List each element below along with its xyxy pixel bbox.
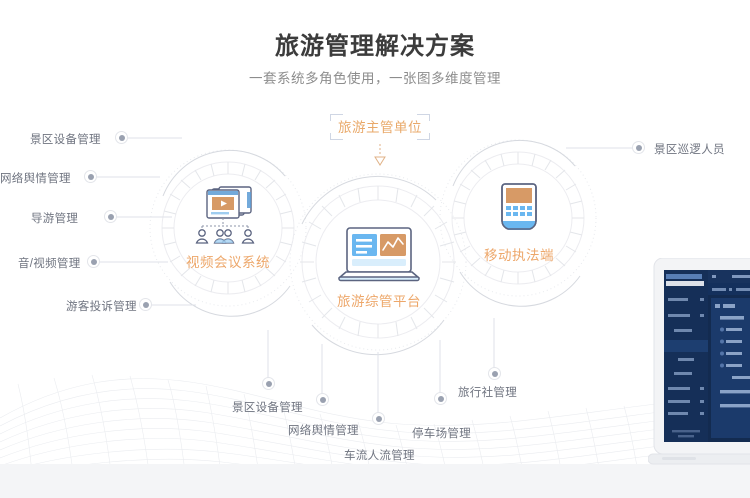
laptop-dashboard-mockup [648, 258, 750, 498]
bottom-label-dot-0[interactable] [262, 377, 275, 390]
node-mobile-enforcement[interactable]: 移动执法端 [498, 181, 540, 259]
bottom-label-3[interactable]: 停车场管理 [412, 425, 471, 441]
left-label-0[interactable]: 景区设备管理 [30, 131, 101, 147]
laptop-dashboard-icon [333, 226, 425, 288]
solution-diagram-page: 旅游管理解决方案 一套系统多角色使用，一张图多维度管理 旅游主管单位 [0, 0, 750, 498]
right-label-dot-0[interactable] [632, 141, 645, 154]
node-caption-video-conference: 视频会议系统 [186, 251, 270, 271]
badge-arrow-icon [375, 144, 385, 165]
bottom-label-1[interactable]: 网络舆情管理 [288, 422, 359, 438]
bottom-label-dot-2[interactable] [372, 412, 385, 425]
left-label-3[interactable]: 音/视频管理 [18, 255, 81, 271]
bottom-label-dot-1[interactable] [316, 393, 329, 406]
left-label-dot-2[interactable] [104, 210, 117, 223]
handheld-terminal-icon [498, 181, 540, 241]
node-video-conference[interactable]: 视频会议系统 [190, 185, 266, 265]
left-label-dot-3[interactable] [87, 255, 100, 268]
node-caption-mobile-enforcement: 移动执法端 [484, 244, 554, 264]
bottom-label-0[interactable]: 景区设备管理 [232, 399, 303, 415]
left-label-1[interactable]: 网络舆情管理 [0, 170, 71, 186]
left-label-dot-1[interactable] [84, 170, 97, 183]
node-caption-tourism-platform: 旅游综管平台 [337, 290, 421, 310]
node-tourism-platform[interactable]: 旅游综管平台 [333, 226, 425, 312]
left-label-dot-4[interactable] [139, 298, 152, 311]
bottom-label-4[interactable]: 旅行社管理 [458, 384, 517, 400]
left-label-dot-0[interactable] [115, 131, 128, 144]
right-label-0[interactable]: 景区巡逻人员 [654, 141, 725, 157]
left-label-2[interactable]: 导游管理 [31, 210, 78, 226]
video-conference-icon [190, 185, 266, 247]
bottom-label-dot-4[interactable] [488, 367, 501, 380]
bottom-label-2[interactable]: 车流人流管理 [344, 447, 415, 463]
left-label-4[interactable]: 游客投诉管理 [66, 298, 137, 314]
bottom-label-dot-3[interactable] [434, 392, 447, 405]
